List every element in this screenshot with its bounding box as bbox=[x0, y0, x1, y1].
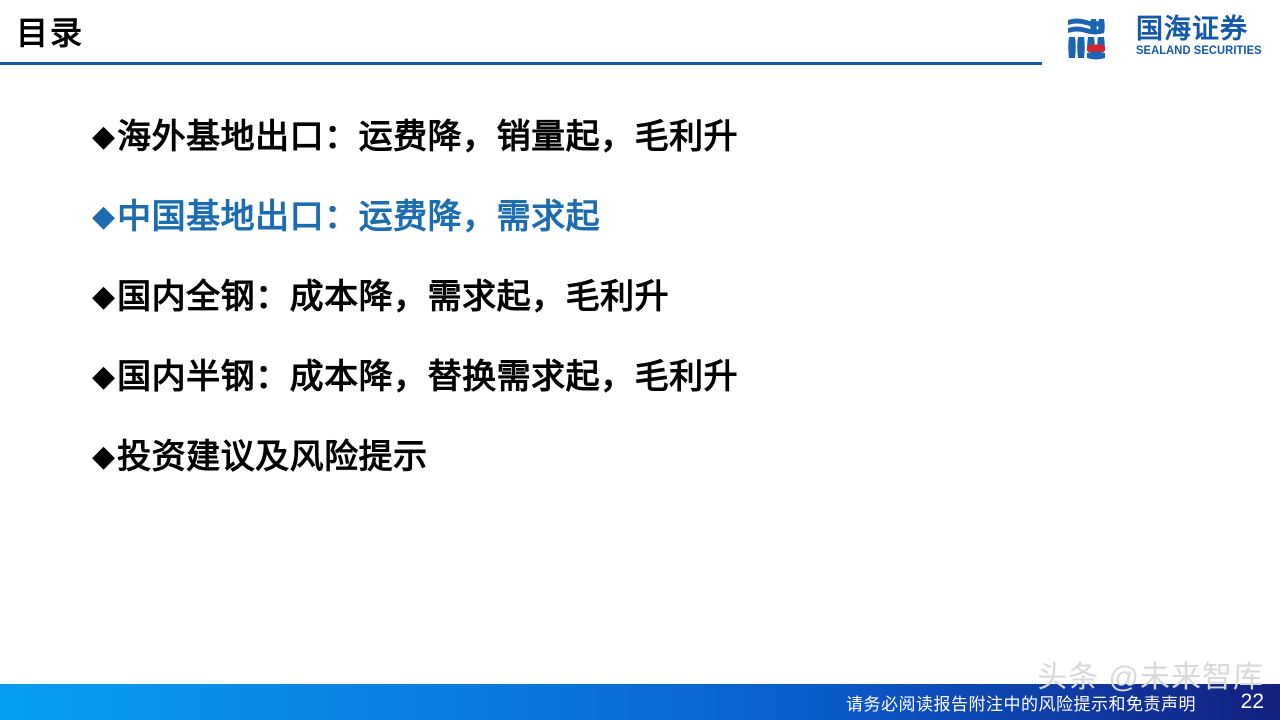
title-divider bbox=[0, 62, 1042, 65]
logo-name-cn: 国海证券 bbox=[1136, 14, 1268, 44]
company-logo: 国海证券 SEALAND SECURITIES bbox=[1066, 12, 1266, 68]
diamond-bullet-icon: ◆ bbox=[92, 202, 115, 232]
diamond-bullet-icon: ◆ bbox=[92, 122, 115, 152]
toc-item-domestic-semi-steel[interactable]: ◆ 国内半钢：成本降，替换需求起，毛利升 bbox=[92, 352, 1192, 404]
diamond-bullet-icon: ◆ bbox=[92, 282, 115, 312]
toc-item-investment-advice-risk[interactable]: ◆ 投资建议及风险提示 bbox=[92, 432, 1192, 484]
slide: 目录 bbox=[0, 0, 1280, 720]
sealand-wave-mark-icon bbox=[1066, 16, 1128, 62]
diamond-bullet-icon: ◆ bbox=[92, 442, 115, 472]
toc-list: ◆ 海外基地出口：运费降，销量起，毛利升 ◆ 中国基地出口：运费降，需求起 ◆ … bbox=[92, 112, 1192, 512]
diamond-bullet-icon: ◆ bbox=[92, 362, 115, 392]
toc-item-label: 国内全钢：成本降，需求起，毛利升 bbox=[117, 278, 669, 317]
logo-text: 国海证券 SEALAND SECURITIES bbox=[1136, 14, 1268, 58]
page-title: 目录 bbox=[16, 17, 84, 49]
toc-item-label: 海外基地出口：运费降，销量起，毛利升 bbox=[117, 118, 738, 157]
toc-item-china-base-export[interactable]: ◆ 中国基地出口：运费降，需求起 bbox=[92, 192, 1192, 244]
logo-name-en: SEALAND SECURITIES bbox=[1136, 44, 1264, 58]
toc-item-label: 中国基地出口：运费降，需求起 bbox=[117, 198, 600, 237]
toc-item-domestic-all-steel[interactable]: ◆ 国内全钢：成本降，需求起，毛利升 bbox=[92, 272, 1192, 324]
toc-item-label: 投资建议及风险提示 bbox=[117, 438, 428, 477]
toc-item-label: 国内半钢：成本降，替换需求起，毛利升 bbox=[117, 358, 738, 397]
toc-item-overseas-base-export[interactable]: ◆ 海外基地出口：运费降，销量起，毛利升 bbox=[92, 112, 1192, 164]
watermark: 头条 @未来智库 bbox=[1037, 652, 1264, 696]
footer-disclaimer: 请务必阅读报告附注中的风险提示和免责声明 bbox=[0, 684, 1196, 720]
